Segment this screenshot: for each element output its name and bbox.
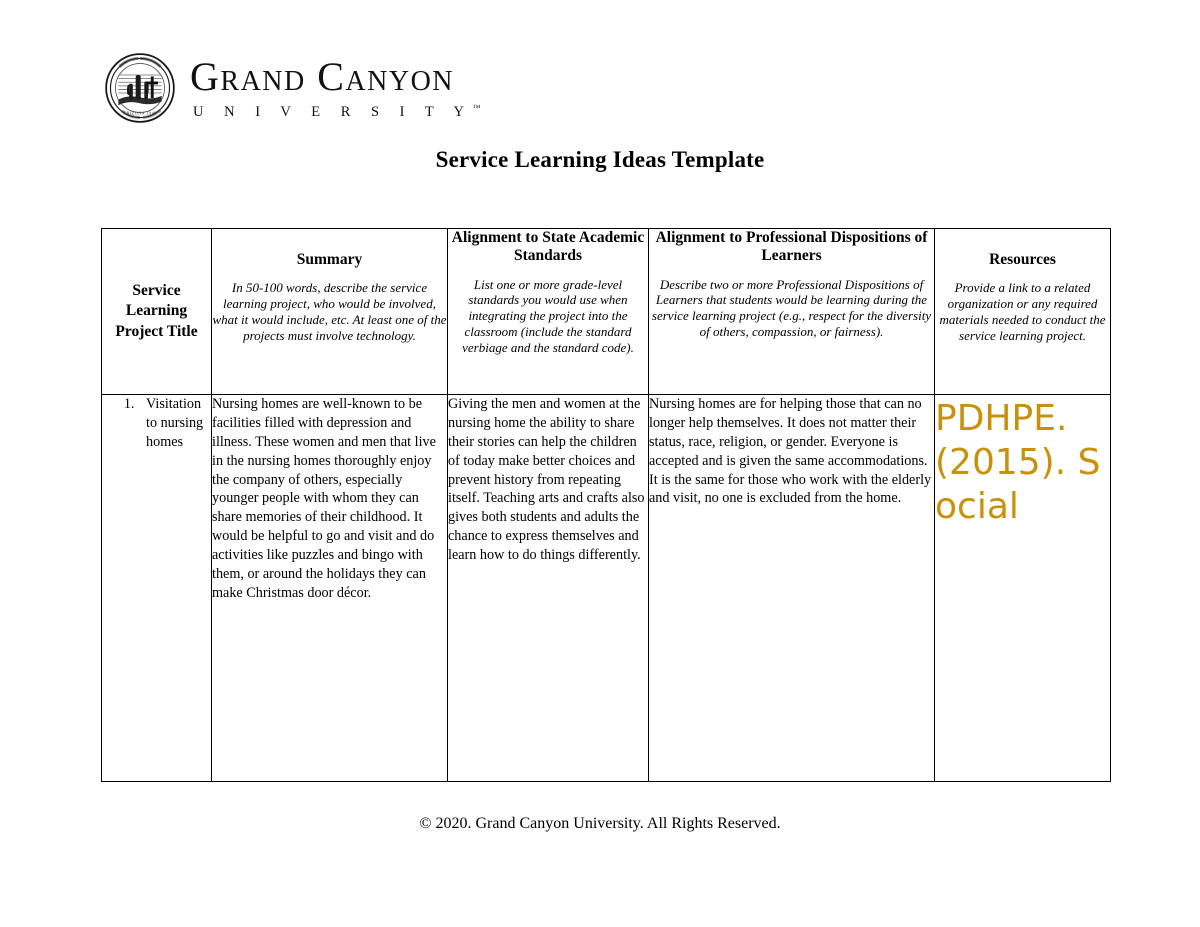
table-row: Visitation to nursing homes Nursing home… <box>102 395 1111 782</box>
copyright-footer: © 2020. Grand Canyon University. All Rig… <box>0 815 1200 833</box>
service-learning-table-wrapper: Service Learning Project Title Summary I… <box>101 228 1110 782</box>
table-header-row: Service Learning Project Title Summary I… <box>102 229 1111 395</box>
header-cell-professional-dispositions: Alignment to Professional Dispositions o… <box>649 229 935 395</box>
header-title: Alignment to State Academic Standards <box>448 229 648 266</box>
resources-text: PDHPE. (2015). Social <box>935 395 1110 529</box>
wordmark-main: Grand Canyon <box>190 57 454 97</box>
header-cell-state-standards: Alignment to State Academic Standards Li… <box>448 229 649 395</box>
wordmark-sub: U N I V E R S I T Y™ <box>193 104 480 119</box>
page-title: Service Learning Ideas Template <box>0 147 1200 173</box>
header-description: Describe two or more Professional Dispos… <box>649 277 934 340</box>
header-cell-resources: Resources Provide a link to a related or… <box>935 229 1111 395</box>
trademark-symbol: ™ <box>473 103 481 112</box>
header-cell-project-title: Service Learning Project Title <box>102 229 212 395</box>
cell-state-standards[interactable]: Giving the men and women at the nursing … <box>448 395 649 782</box>
header-title: Resources <box>935 251 1110 269</box>
university-wordmark: Grand Canyon U N I V E R S I T Y™ <box>190 57 480 119</box>
cell-project-title[interactable]: Visitation to nursing homes <box>102 395 212 782</box>
header-description: Provide a link to a related organization… <box>935 280 1110 343</box>
cell-summary[interactable]: Nursing homes are well-known to be facil… <box>212 395 448 782</box>
university-logo: ARIZONA 1949 Grand Canyon U N I V E R S … <box>104 52 480 124</box>
project-title-text: Visitation to nursing homes <box>146 395 208 452</box>
header-cell-summary: Summary In 50-100 words, describe the se… <box>212 229 448 395</box>
project-title-list: Visitation to nursing homes <box>112 395 211 452</box>
list-item: Visitation to nursing homes <box>138 395 211 452</box>
header-title: Summary <box>212 251 447 269</box>
header-description: List one or more grade-level standards y… <box>448 277 648 356</box>
cell-professional-dispositions[interactable]: Nursing homes are for helping those that… <box>649 395 935 782</box>
cell-resources[interactable]: PDHPE. (2015). Social <box>935 395 1111 782</box>
university-seal-icon: ARIZONA 1949 <box>104 52 176 124</box>
header-title: Service Learning Project Title <box>102 281 211 342</box>
header-title: Alignment to Professional Dispositions o… <box>649 229 934 266</box>
svg-text:ARIZONA 1949: ARIZONA 1949 <box>123 111 157 116</box>
service-learning-ideas-table: Service Learning Project Title Summary I… <box>101 228 1111 782</box>
header-description: In 50-100 words, describe the service le… <box>212 280 447 343</box>
